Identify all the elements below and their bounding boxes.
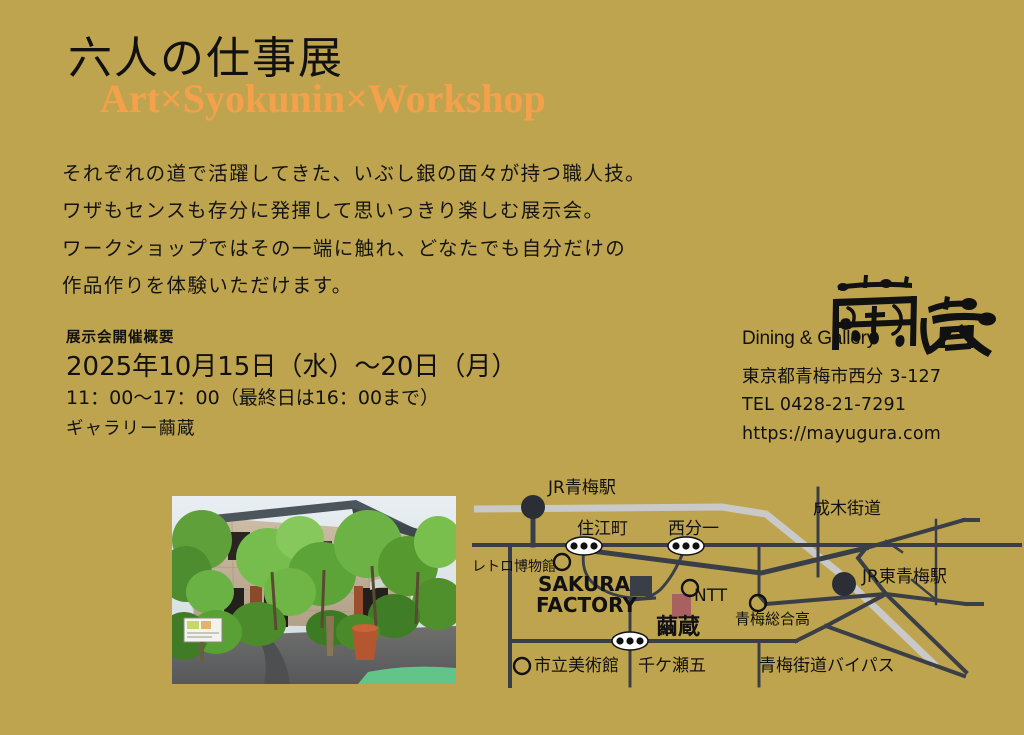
map-label-sakura-factory-2: FACTORY [536,593,637,617]
lead-line-3: ワークショップではその一端に触れ、どなたでも自分だけの [62,230,702,267]
map-label-mayugura: 繭蔵 [656,615,700,640]
jr-ome-station-dot [521,495,545,519]
poster-canvas: 六人の仕事展 Art×Syokunin×Workshop それぞれの道で活躍して… [0,0,1024,735]
lead-paragraph: それぞれの道で活躍してきた、いぶし銀の面々が持つ職人技。 ワザもセンスも存分に発… [62,155,702,305]
brand-url[interactable]: https://mayugura.com [742,420,1002,448]
event-info-block: 展示会開催概要 2025年10月15日（水）〜20日（月） 11：00〜17：0… [66,326,517,442]
map-label-ome-kaido-bypass: 青梅街道バイパス [759,656,895,676]
brand-address: 東京都青梅市西分 3-127 [742,363,1002,391]
event-time: 11：00〜17：00（最終日は16：00まで） [66,385,517,413]
map-label-jr-higashi-ome: JR東青梅駅 [861,567,947,587]
venue-photo [172,496,456,684]
access-map: JR青梅駅住江町西分一成木街道レトロ博物館SAKURAFACTORYNTT繭蔵青… [466,476,1022,691]
map-label-nariki-kaido: 成木街道 [813,499,881,519]
jr-higashi-ome-station-dot [832,572,856,596]
map-label-jr-ome-station: JR青梅駅 [547,478,616,498]
map-label-chigase-go: 千ケ瀬五 [638,656,706,676]
lead-line-4: 作品作りを体験いただけます。 [62,267,702,304]
event-date: 2025年10月15日（水）〜20日（月） [66,351,517,384]
brand-logo-wrap: Dining & Gallery [742,272,1002,357]
event-venue: ギャラリー繭蔵 [66,416,517,442]
brand-contact: 東京都青梅市西分 3-127 TEL 0428-21-7291 https://… [742,363,1002,448]
lead-line-1: それぞれの道で活躍してきた、いぶし銀の面々が持つ職人技。 [62,155,702,192]
retro-museum-marker [554,554,570,570]
brand-block: Dining & Gallery 東京都青梅市西分 3-127 TEL 0428… [742,272,1002,448]
map-label-shiritsu-bijutsukan: 市立美術館 [534,656,619,676]
event-heading: 展示会開催概要 [66,326,517,347]
brand-tel: TEL 0428-21-7291 [742,391,1002,419]
map-label-ntt: NTT [694,586,728,606]
lead-line-2: ワザもセンスも存分に発揮して思いっきり楽しむ展示会。 [62,192,702,229]
page-subtitle: Art×Syokunin×Workshop [100,78,546,120]
map-label-nishibun-ichi: 西分一 [668,519,719,539]
map-label-ome-sogo-high: 青梅総合高 [735,610,810,628]
brand-tagline: Dining & Gallery [742,328,876,350]
shiritsu-bijutsukan-marker [514,658,530,674]
map-label-suminoecho: 住江町 [577,519,628,539]
